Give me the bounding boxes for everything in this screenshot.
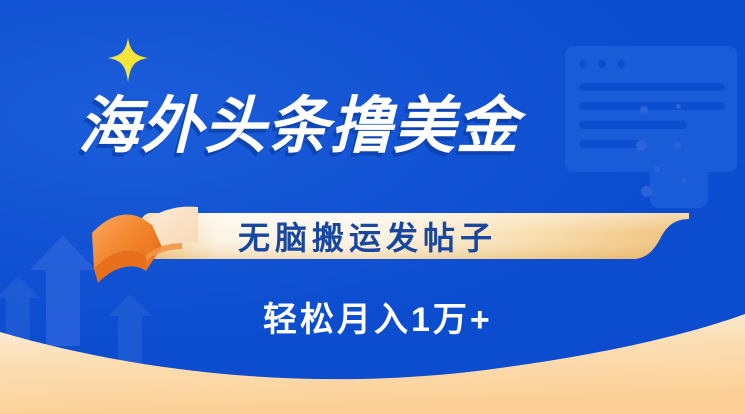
- grid-dot: [654, 166, 660, 172]
- bottom-wave-decoration: [0, 284, 745, 414]
- dot-grid-icon: [636, 104, 745, 214]
- ribbon-label: 无脑搬运发帖子: [238, 222, 497, 254]
- card-text-line: [579, 83, 725, 91]
- page-title: 海外头条撸美金: [78, 96, 519, 158]
- promo-poster: 海外头条撸美金 无脑搬运发帖子: [0, 0, 745, 414]
- open-book-icon: [86, 203, 204, 287]
- card-dot: [617, 60, 625, 68]
- four-point-star-icon: [108, 38, 148, 82]
- card-dot: [598, 60, 606, 68]
- grid-dot: [641, 186, 652, 197]
- grid-dot: [640, 106, 648, 114]
- grid-dot: [636, 140, 647, 151]
- card-window-dots: [579, 60, 625, 68]
- grid-dot: [674, 142, 681, 149]
- card-dot: [579, 60, 587, 68]
- grid-dot: [682, 178, 687, 183]
- grid-dot: [676, 104, 681, 109]
